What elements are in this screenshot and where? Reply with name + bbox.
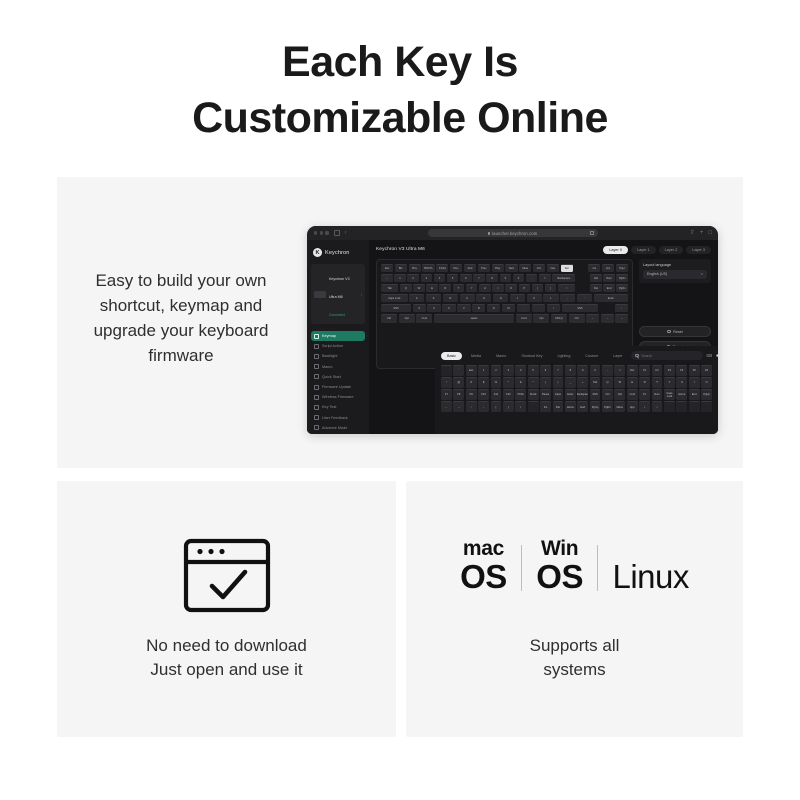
os-support-caption-line-2: systems [426, 658, 723, 682]
winos-suffix: OS [536, 560, 583, 593]
key-bank-key[interactable]: # [466, 377, 477, 388]
key-bank-key[interactable]: Cmd [627, 389, 638, 400]
keychron-logo-icon: K [313, 248, 322, 257]
keyboard-key[interactable]: E [426, 284, 438, 293]
keyboard-key[interactable]: 4 [434, 274, 446, 283]
key-bank-tab-list: BasicMediaMacroShortcut KeyLightingCusto… [441, 352, 628, 360]
sidebar-item-label: User Feedback [322, 416, 348, 420]
keyboard-key[interactable]: 6 [460, 274, 472, 283]
key-bank-tab-basic[interactable]: Basic [441, 352, 462, 360]
key-bank-key[interactable]: Num [652, 389, 663, 400]
keyboard-key[interactable]: 8 [486, 274, 498, 283]
key-bank-key[interactable]: * [528, 377, 539, 388]
key-bank-key[interactable]: End [577, 401, 588, 412]
keyboard-key[interactable]: F.Pad [436, 264, 448, 273]
keyboard-key[interactable]: ] [545, 284, 557, 293]
keyboard-key[interactable]: Cmd [416, 314, 432, 323]
keyboard-key[interactable]: Shift [562, 304, 599, 313]
key-bank-key[interactable]: F5 [689, 365, 700, 376]
sidebar-item-macro[interactable]: Macro [311, 362, 365, 372]
key-bank-key[interactable]: 1 [478, 365, 489, 376]
keyboard-key[interactable]: Del [590, 274, 602, 283]
keyboard-key[interactable]: Brt- [395, 264, 407, 273]
keyboard-key[interactable]: U [479, 284, 491, 293]
keyboard-key[interactable]: Ctrl [569, 314, 585, 323]
key-bank-key[interactable]: • [652, 401, 663, 412]
keyboard-key[interactable]: 7 [473, 274, 485, 283]
sidebar-item-label: Firmware Update [322, 385, 351, 389]
key-bank-key[interactable]: 9 [577, 365, 588, 376]
reset-label: Reset [673, 330, 682, 334]
browser-window-check-icon [183, 538, 271, 613]
share-icon[interactable]: ⇧ [690, 230, 695, 236]
os-support-caption-line-1: Supports all [426, 634, 723, 658]
os-logo-row: mac OS Win OS Linux [406, 538, 743, 593]
key-bank-key[interactable]: F2 [652, 365, 663, 376]
keyboard-key[interactable]: G [476, 294, 491, 303]
keyboard-row: TabQWERTYUIOP[]\DelEndPgDn [381, 284, 628, 293]
sidebar-item-icon [314, 415, 319, 420]
key-bank-key[interactable]: PgUp [590, 401, 601, 412]
layer-button-1[interactable]: Layer 1 [631, 246, 656, 254]
keyboard-key[interactable]: End [603, 284, 615, 293]
keyboard-key[interactable]: Dnd [464, 264, 476, 273]
layout-language-box: Layout language English (US) ∨ [639, 259, 711, 283]
keyboard-key[interactable]: W [413, 284, 425, 293]
sidebar-item-icon [314, 405, 319, 410]
key-bank-key[interactable]: → [453, 401, 464, 412]
key-bank-key[interactable]: Del [553, 401, 564, 412]
key-bank-key[interactable]: ^ [503, 377, 514, 388]
key-bank-key[interactable]: I [689, 377, 700, 388]
key-bank-grid[interactable]: ̀Esc1234567890-=DelF1F2F3F4F5F6!@#$%^&*(… [441, 365, 712, 412]
key-bank-key[interactable]: F7 [441, 389, 452, 400]
keyboard-key[interactable]: MO(1) [551, 314, 567, 323]
keyboard-row: Caps LockASDFGHJKL;'Enter [381, 294, 628, 303]
feature-card-os-support [406, 481, 743, 737]
os-divider-2 [597, 545, 599, 591]
key-bank-empty-slot [701, 401, 712, 412]
device-meta: Keychron V3 Ultra M6 Connected [329, 267, 358, 321]
sidebar-nav: KeymapScript ActionBacklightMacroQuick S… [311, 331, 365, 433]
key-bank-key[interactable]: F8 [453, 389, 464, 400]
keyboard-key[interactable]: ; [560, 294, 575, 303]
keyboard-key[interactable]: L [543, 294, 558, 303]
keyboard-key[interactable]: Cmd [516, 314, 532, 323]
key-bank-key[interactable]: Y [664, 377, 675, 388]
keyboard-key[interactable]: ~ [381, 274, 393, 283]
lock-icon [488, 232, 491, 235]
layer-switcher: Layer 0Layer 1Layer 2Layer 3 [603, 246, 711, 254]
mouse-icon[interactable]: ◽ [715, 353, 718, 358]
keyboard-key[interactable]: 2 [407, 274, 419, 283]
key-bank-key[interactable]: ( [540, 377, 551, 388]
keyboard-key[interactable]: N [487, 304, 500, 313]
keyboard-key[interactable]: H [493, 294, 508, 303]
keyboard-key[interactable]: Vol+ [547, 264, 559, 273]
sidebar-item-label: Backlight [322, 354, 337, 358]
keyboard-gap [577, 274, 589, 283]
sidebar-item-icon [314, 395, 319, 400]
app-title: Keychron V3 Ultra M6 [376, 247, 425, 252]
sidebar-item-label: Script Action [322, 344, 343, 348]
keyboard-key[interactable]: Opt [533, 314, 549, 323]
app-screenshot-window: ‹ launcher.keychron.com ⇧ + □ K Keychron [307, 226, 718, 434]
key-bank-key[interactable]: F10 [478, 389, 489, 400]
key-bank-key[interactable]: ̀ [453, 365, 464, 376]
keyboard-key[interactable]: X [427, 304, 440, 313]
key-bank-key[interactable]: 5 [528, 365, 539, 376]
key-bank-key[interactable]: \ [515, 401, 526, 412]
keyboard-key[interactable]: V [457, 304, 470, 313]
keyboard-key[interactable]: Num [603, 274, 615, 283]
key-bank-key[interactable]: Backspace [577, 389, 588, 400]
keyboard-key[interactable]: Vol- [533, 264, 545, 273]
key-bank-key[interactable]: Shift [590, 389, 601, 400]
key-bank-key[interactable]: Enter [565, 389, 576, 400]
reset-button[interactable]: Reset [639, 326, 711, 338]
winos-prefix: Win [541, 538, 578, 559]
key-bank-key[interactable]: • [639, 401, 650, 412]
key-bank-key[interactable]: F11 [491, 389, 502, 400]
sidebar-item-icon [314, 334, 319, 339]
key-bank-key[interactable]: PrtSc [515, 389, 526, 400]
no-download-caption-line-2: Just open and use it [77, 658, 376, 682]
keyboard-key[interactable]: \ [558, 284, 575, 293]
launcher-app: K Keychron Keychron V3 Ultra M6 Connecte… [307, 240, 718, 434]
key-bank-key[interactable]: ] [503, 401, 514, 412]
os-support-caption: Supports all systems [426, 634, 723, 682]
sidebar-item-icon [314, 364, 319, 369]
key-bank-key[interactable]: W [614, 377, 625, 388]
keyboard-key[interactable]: Enter [594, 294, 628, 303]
headline-line-2: Customizable Online [0, 90, 800, 146]
keyboard-key[interactable]: Z [413, 304, 426, 313]
layout-language-select[interactable]: English (US) ∨ [643, 270, 707, 279]
sidebar-item-icon [314, 344, 319, 349]
keyboard-key[interactable]: F [460, 294, 475, 303]
marketing-page: Each Key Is Customizable Online Easy to … [0, 0, 800, 800]
keyboard-key[interactable]: Hm [602, 264, 614, 273]
key-bank-key[interactable]: Fn [639, 389, 650, 400]
os-logo-linux: Linux [612, 560, 688, 593]
key-bank-key[interactable]: R [639, 377, 650, 388]
key-bank-key[interactable]: Menu [614, 401, 625, 412]
key-bank-key[interactable]: ! [441, 377, 452, 388]
search-input[interactable]: Search [631, 351, 703, 360]
keyboard-key[interactable]: PgDn [616, 284, 628, 293]
device-thumbnail-icon [314, 291, 326, 298]
keyboard-key[interactable]: Ins [588, 264, 600, 273]
key-bank-key[interactable]: Home [565, 401, 576, 412]
key-bank-tab-media[interactable]: Media [465, 352, 487, 360]
key-bank-key[interactable]: ↑ [466, 401, 477, 412]
key-bank-key[interactable]: $ [478, 377, 489, 388]
keyboard-icon[interactable]: ⌨ [706, 353, 712, 358]
no-download-caption-line-1: No need to download [77, 634, 376, 658]
layer-button-2[interactable]: Layer 2 [659, 246, 684, 254]
key-bank-key[interactable]: & [515, 377, 526, 388]
sidebar-item-label: Wireless Firmware [322, 395, 353, 399]
new-tab-icon[interactable]: + [700, 230, 704, 236]
sidebar-item-icon [314, 385, 319, 390]
tabs-overview-icon[interactable]: □ [708, 230, 712, 236]
keyboard-key[interactable]: Y [466, 284, 478, 293]
keyboard-key[interactable]: M [502, 304, 515, 313]
key-bank-key[interactable]: 2 [491, 365, 502, 376]
keyboard-key[interactable]: J [510, 294, 525, 303]
keyboard-key[interactable]: Brt+ [409, 264, 421, 273]
keyboard-row: EscBrt-Brt+MSCTLF.PadDic+DndPrevPlayNext… [381, 264, 628, 273]
chevron-down-icon[interactable]: › [361, 292, 362, 297]
key-bank-key[interactable]: PgDn [602, 401, 613, 412]
sidebar-item-icon [314, 425, 319, 430]
keyboard-key[interactable]: Prev [478, 264, 490, 273]
key-bank-tools: Search ⌨ ◽ ⚙ [631, 351, 718, 360]
brand-name: Keychron [325, 250, 349, 256]
key-bank-tab-custom[interactable]: Custom [579, 352, 604, 360]
no-download-caption: No need to download Just open and use it [77, 634, 376, 682]
sidebar-item-advance-mode[interactable]: Advance Mode [311, 423, 365, 433]
keyboard-key[interactable]: I [492, 284, 504, 293]
key-bank-key[interactable]: 6 [540, 365, 551, 376]
key-bank-key[interactable]: ScrLk [528, 389, 539, 400]
key-bank-key[interactable]: O [701, 377, 712, 388]
key-bank-key[interactable]: = [614, 365, 625, 376]
keyboard-key[interactable]: A [409, 294, 424, 303]
key-bank-row: !@#$%^&*()_+TabQWERTYUIO [441, 377, 712, 388]
page-title: Each Key Is Customizable Online [0, 34, 800, 146]
layer-button-3[interactable]: Layer 3 [686, 246, 711, 254]
sidebar-item-user-feedback[interactable]: User Feedback [311, 413, 365, 423]
sidebar-item-wireless-firmware[interactable]: Wireless Firmware [311, 392, 365, 402]
key-bank-key[interactable]: End [689, 389, 700, 400]
keyboard-key[interactable]: D [443, 294, 458, 303]
key-bank-key[interactable]: 8 [565, 365, 576, 376]
app-sidebar: K Keychron Keychron V3 Ultra M6 Connecte… [307, 240, 369, 434]
sidebar-item-script-action[interactable]: Script Action [311, 341, 365, 351]
keyboard-key[interactable]: Dic+ [450, 264, 462, 273]
key-bank-tab-layer[interactable]: Layer [607, 352, 628, 360]
keyboard-key[interactable]: [ [532, 284, 544, 293]
keyboard-key[interactable]: ' [577, 294, 592, 303]
layout-language-value: English (US) [647, 272, 667, 276]
key-bank-row: ̀Esc1234567890-=DelF1F2F3F4F5F6 [441, 365, 712, 376]
traffic-light-close[interactable] [314, 231, 317, 234]
key-bank-key[interactable]: ↓ [478, 401, 489, 412]
key-bank-key[interactable]: % [491, 377, 502, 388]
keyboard-key[interactable]: → [615, 314, 628, 323]
key-bank-key[interactable]: Caps [553, 389, 564, 400]
keyboard-key[interactable]: 1 [394, 274, 406, 283]
traffic-light-minimize[interactable] [320, 231, 323, 234]
sidebar-item-icon [314, 374, 319, 379]
key-bank-key[interactable]: Caps Lock [664, 389, 675, 400]
key-bank-tab-shortcut-key[interactable]: Shortcut Key [515, 352, 548, 360]
keyboard-gap [600, 304, 613, 313]
key-bank-key[interactable]: Tab [590, 377, 601, 388]
keyboard-key[interactable]: MSCTL [422, 264, 434, 273]
search-icon [635, 354, 639, 358]
keyboard-key[interactable]: Caps Lock [381, 294, 408, 303]
keyboard-key[interactable]: 0 [513, 274, 525, 283]
keyboard-key[interactable]: Ctrl [381, 314, 397, 323]
keyboard-key[interactable]: PgU [616, 264, 628, 273]
key-bank-key[interactable]: F3 [664, 365, 675, 376]
key-bank-tab-lighting[interactable]: Lighting [551, 352, 576, 360]
key-bank-empty-slot [689, 401, 700, 412]
app-header: Keychron V3 Ultra M6 Layer 0Layer 1Layer… [376, 246, 711, 254]
keyboard-key[interactable]: - [526, 274, 538, 283]
os-logo-macos: mac OS [460, 538, 507, 593]
sidebar-item-key-test[interactable]: Key Test [311, 402, 365, 412]
key-bank-key[interactable]: @ [453, 377, 464, 388]
sidebar-item-quick-start[interactable]: Quick Start [311, 372, 365, 382]
key-bank-key[interactable]: 3 [503, 365, 514, 376]
search-placeholder: Search [641, 354, 652, 358]
keyboard-key[interactable]: Shift [381, 304, 411, 313]
key-bank-key[interactable]: T [652, 377, 663, 388]
layer-button-0[interactable]: Layer 0 [603, 246, 628, 254]
keyboard-key[interactable]: , [517, 304, 530, 313]
keyboard-key[interactable]: Mute [519, 264, 531, 273]
key-bank-key[interactable]: ← [441, 401, 452, 412]
key-bank-key[interactable]: F6 [701, 365, 712, 376]
key-bank-key[interactable]: 4 [515, 365, 526, 376]
sidebar-item-backlight[interactable]: Backlight [311, 351, 365, 361]
key-bank-tab-macro[interactable]: Macro [490, 352, 512, 360]
keyboard-gap [574, 264, 586, 273]
key-bank-key[interactable]: Ins [540, 401, 551, 412]
keyboard-key[interactable]: S [426, 294, 441, 303]
sidebar-toggle-icon[interactable] [334, 230, 340, 236]
key-bank-key[interactable]: App [627, 401, 638, 412]
key-bank-key[interactable]: U [676, 377, 687, 388]
keyboard-key[interactable]: ← [586, 314, 599, 323]
key-bank-key[interactable]: 7 [553, 365, 564, 376]
key-bank-key[interactable]: Home [676, 389, 687, 400]
key-bank-key[interactable]: E [627, 377, 638, 388]
headline-line-1: Each Key Is [282, 38, 518, 86]
keyboard-key[interactable]: / [547, 304, 560, 313]
key-bank-key[interactable]: PgUp [701, 389, 712, 400]
key-bank-empty-slot [528, 401, 539, 412]
key-bank-key[interactable]: Pause [540, 389, 551, 400]
url-bar[interactable]: launcher.keychron.com [428, 229, 598, 238]
sidebar-item-label: Keymap [322, 334, 336, 338]
key-bank-key[interactable]: + [577, 377, 588, 388]
key-bank-key[interactable]: 0 [590, 365, 601, 376]
sidebar-item-label: Macro [322, 365, 333, 369]
key-bank-panel: BasicMediaMacroShortcut KeyLightingCusto… [435, 346, 718, 434]
key-bank-key[interactable]: Q [602, 377, 613, 388]
key-bank-key[interactable]: Del [627, 365, 638, 376]
key-bank-key[interactable]: Ctrl [602, 389, 613, 400]
keyboard-row: CtrlOptCmdspaceCmdOptMO(1)Ctrl←↓→ [381, 314, 628, 323]
brand: K Keychron [311, 246, 365, 262]
key-bank-key[interactable]: F12 [503, 389, 514, 400]
key-bank-row: F7F8F9F10F11F12PrtScScrLkPauseCapsEnterB… [441, 389, 712, 400]
key-bank-key[interactable]: F1 [639, 365, 650, 376]
macos-prefix: mac [463, 538, 504, 559]
keyboard-key[interactable]: O [505, 284, 517, 293]
keyboard-key[interactable]: PgDn [616, 274, 628, 283]
layout-language-label: Layout language [643, 263, 707, 267]
key-bank-key[interactable]: Esc [466, 365, 477, 376]
device-selector[interactable]: Keychron V3 Ultra M6 Connected › [311, 264, 365, 324]
keyboard-key[interactable]: C [442, 304, 455, 313]
keyboard-row: ~1234567890-=BackspaceDelNumPgDn [381, 274, 628, 283]
os-divider-1 [521, 545, 523, 591]
keyboard-key[interactable]: R [439, 284, 451, 293]
keyboard-row: ShiftZXCVBNM,./Shift↑ [381, 304, 628, 313]
app-main: Keychron V3 Ultra M6 Layer 0Layer 1Layer… [369, 240, 718, 434]
key-bank-key[interactable]: _ [565, 377, 576, 388]
device-status: Connected [329, 313, 345, 317]
keyboard-key[interactable]: K [527, 294, 542, 303]
key-bank-key[interactable]: - [602, 365, 613, 376]
feature-card-copy: Easy to build your own shortcut, keymap … [72, 268, 290, 368]
key-bank-tabs: BasicMediaMacroShortcut KeyLightingCusto… [441, 351, 712, 360]
bookmark-icon[interactable] [590, 231, 594, 235]
keyboard-key[interactable]: ↑ [615, 304, 628, 313]
key-bank-empty-slot [676, 401, 687, 412]
sidebar-item-label: Key Test [322, 405, 337, 409]
keyboard-key[interactable]: Play [492, 264, 504, 273]
keyboard-key[interactable]: = [539, 274, 551, 283]
browser-actions: ⇧ + □ [690, 230, 712, 236]
linux-label: Linux [612, 560, 688, 593]
keyboard-key[interactable]: ↓ [601, 314, 614, 323]
reset-icon [667, 330, 670, 333]
keyboard-key[interactable]: . [532, 304, 545, 313]
keyboard-key[interactable]: T [453, 284, 465, 293]
device-name: Keychron V3 Ultra M6 [329, 277, 350, 299]
key-bank-key[interactable]: ) [553, 377, 564, 388]
keyboard-key[interactable]: B [472, 304, 485, 313]
key-bank-key[interactable]: F4 [676, 365, 687, 376]
traffic-lights [314, 231, 329, 234]
key-bank-key[interactable]: [ [491, 401, 502, 412]
chevron-down-icon: ∨ [701, 272, 703, 276]
chevron-left-icon[interactable]: ‹ [345, 230, 347, 236]
keyboard-key[interactable]: Opt [399, 314, 415, 323]
key-bank-key[interactable]: F9 [466, 389, 477, 400]
keyboard-key[interactable]: Next [505, 264, 517, 273]
keyboard-key[interactable]: 3 [421, 274, 433, 283]
keyboard-key[interactable]: Del [590, 284, 602, 293]
keyboard-key[interactable]: P [519, 284, 531, 293]
keyboard-key[interactable]: Q [400, 284, 412, 293]
keyboard-key[interactable]: 9 [500, 274, 512, 283]
sidebar-item-keymap[interactable]: Keymap [311, 331, 365, 341]
macos-suffix: OS [460, 560, 507, 593]
keyboard-key[interactable]: Esc [381, 264, 393, 273]
sidebar-item-firmware-update[interactable]: Firmware Update [311, 382, 365, 392]
keyboard-gap [577, 284, 589, 293]
os-logo-windows: Win OS [536, 538, 583, 593]
key-bank-key[interactable]: Opt [614, 389, 625, 400]
keyboard-key[interactable]: Backspace [552, 274, 575, 283]
keyboard-key[interactable]: 5 [447, 274, 459, 283]
keyboard-key[interactable]: Tab [381, 284, 398, 293]
url-text: launcher.keychron.com [492, 231, 537, 236]
keyboard-key[interactable]: space [434, 314, 514, 323]
sidebar-item-icon [314, 354, 319, 359]
traffic-light-zoom[interactable] [325, 231, 328, 234]
keyboard-key[interactable]: Del [561, 264, 573, 273]
key-bank-empty-slot [664, 401, 675, 412]
